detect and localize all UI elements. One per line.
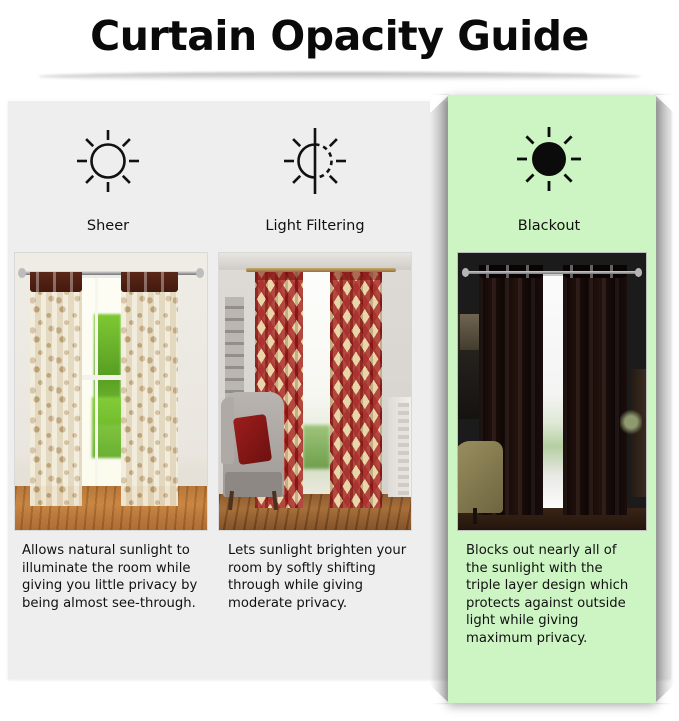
- product-photo-blackout[interactable]: [457, 252, 647, 531]
- title-divider-shadow: [38, 72, 641, 81]
- product-photo-light-filtering[interactable]: [218, 252, 412, 531]
- product-photo-sheer[interactable]: [14, 252, 208, 531]
- category-label-blackout: Blackout: [479, 218, 619, 234]
- sun-outline-icon: [73, 126, 143, 196]
- description-sheer: Allows natural sunlight to illuminate th…: [22, 542, 202, 612]
- highlight-corner-top-right: [655, 95, 674, 113]
- sun-half-dashed-icon: [280, 126, 350, 196]
- category-label-light-filtering: Light Filtering: [245, 218, 385, 234]
- page-title-bar: Curtain Opacity Guide: [0, 0, 679, 73]
- highlight-card-shadow-right: [655, 95, 674, 703]
- highlight-corner-bottom-right: [655, 685, 674, 703]
- highlight-corner-top-left: [430, 95, 449, 113]
- page-title: Curtain Opacity Guide: [90, 16, 589, 57]
- description-light-filtering: Lets sunlight brighten your room by soft…: [228, 542, 414, 612]
- category-label-sheer: Sheer: [38, 218, 178, 234]
- highlight-corner-bottom-left: [430, 685, 449, 703]
- description-blackout: Blocks out nearly all of the sunlight wi…: [466, 542, 641, 647]
- highlight-card-shadow-left: [430, 95, 449, 703]
- sun-filled-icon: [514, 124, 584, 194]
